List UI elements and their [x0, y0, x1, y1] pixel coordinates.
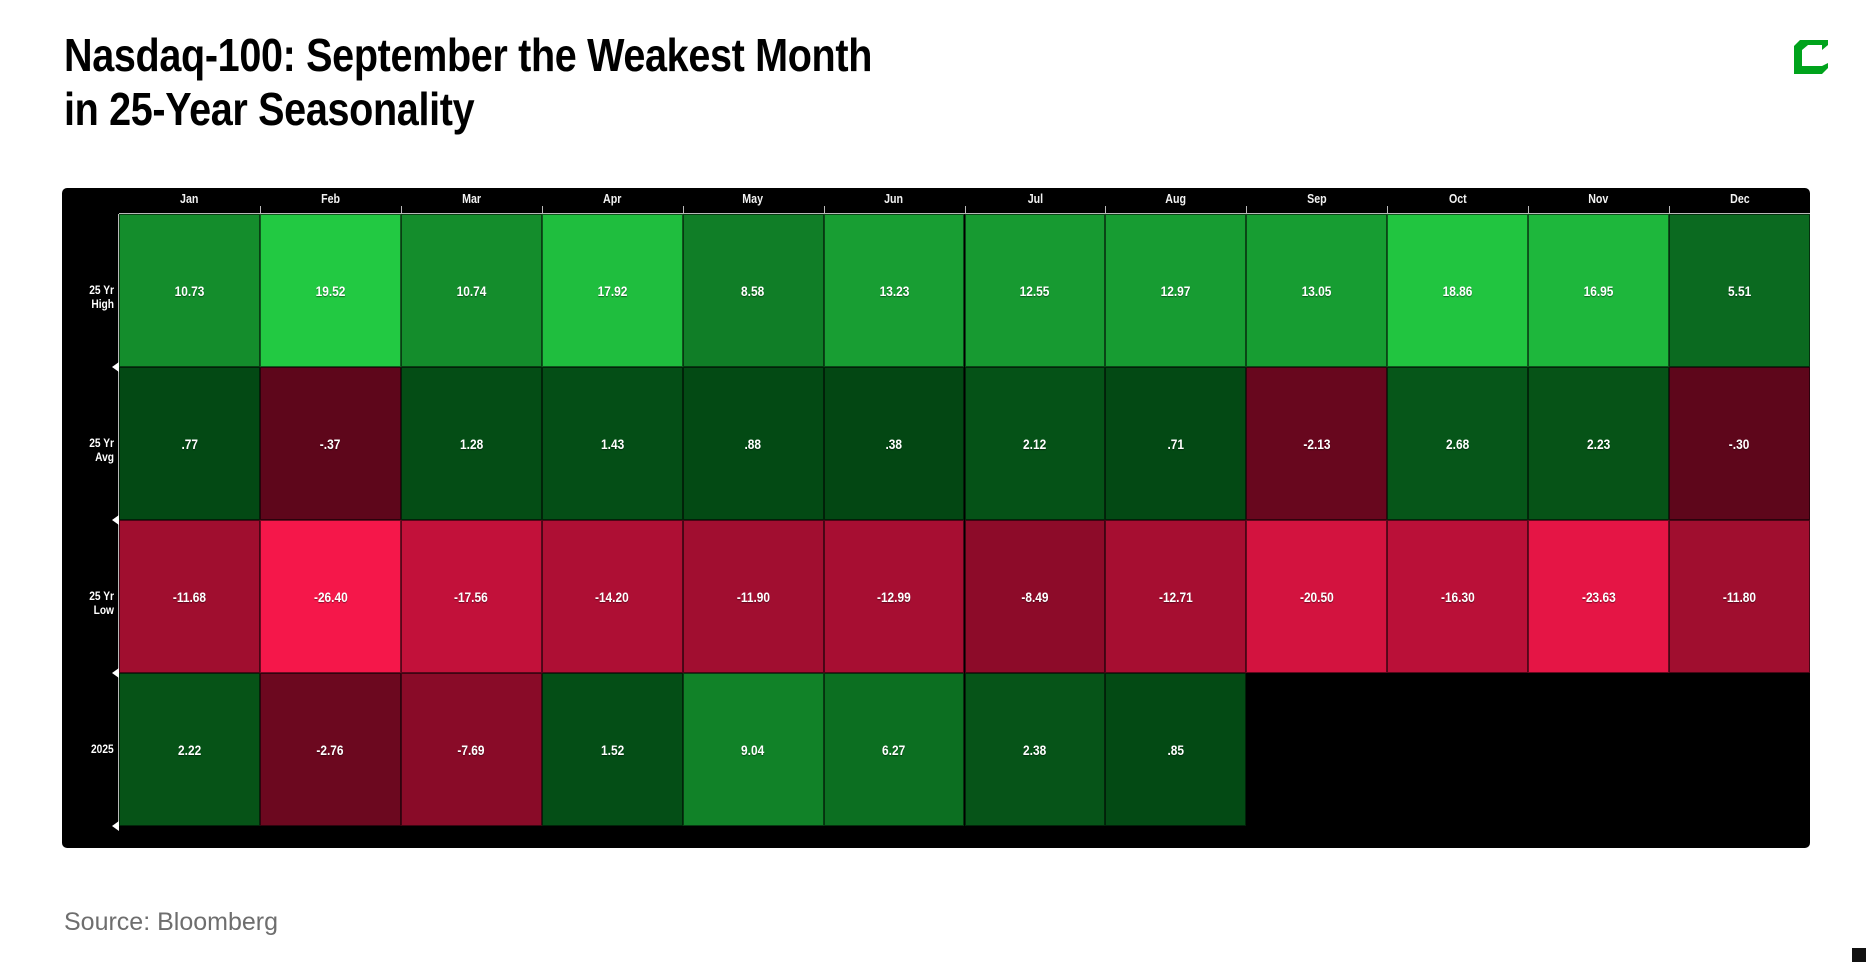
column-tick: [824, 206, 825, 214]
heatmap-cell[interactable]: 1.43: [542, 367, 683, 520]
heatmap-cell-value: -7.69: [458, 742, 485, 758]
heatmap-cell-value: 19.52: [315, 283, 345, 299]
heatmap-cell[interactable]: -23.63: [1528, 520, 1669, 673]
heatmap-cell-value: 1.28: [460, 436, 483, 452]
heatmap-cell[interactable]: -20.50: [1246, 520, 1387, 673]
heatmap-cell[interactable]: 2.38: [965, 673, 1106, 826]
row-boundary-marker-icon: [112, 821, 119, 831]
heatmap-cell-value: 1.43: [601, 436, 624, 452]
row-label-25-yr-avg: 25 Yr Avg: [62, 436, 114, 464]
column-header-sep: Sep: [1246, 188, 1387, 214]
chart-header: Nasdaq-100: September the Weakest Month …: [0, 0, 1872, 170]
heatmap-cell-value: 18.86: [1443, 283, 1473, 299]
heatmap-cell[interactable]: 2.68: [1387, 367, 1528, 520]
column-header-label: Oct: [1449, 188, 1467, 210]
heatmap-cell[interactable]: -7.69: [401, 673, 542, 826]
column-tick: [1387, 206, 1388, 214]
bloomberg-square-logo-icon: [1784, 32, 1836, 84]
column-tick: [1528, 206, 1529, 214]
heatmap-cell-value: -23.63: [1582, 589, 1616, 605]
row-label-column: 25 Yr High25 Yr Avg25 Yr Low2025: [62, 214, 119, 848]
heatmap-cell[interactable]: -26.40: [260, 520, 401, 673]
heatmap-cell[interactable]: 9.04: [683, 673, 824, 826]
heatmap-cell-value: -8.49: [1021, 589, 1048, 605]
heatmap-cell[interactable]: -14.20: [542, 520, 683, 673]
heatmap-cell-value: .85: [1168, 742, 1185, 758]
heatmap-cell[interactable]: .38: [824, 367, 965, 520]
heatmap-cell[interactable]: 12.55: [965, 214, 1106, 367]
heatmap-cell[interactable]: -11.68: [119, 520, 260, 673]
row-label-text: 25 Yr Low: [70, 589, 114, 617]
heatmap-cell-value: -14.20: [595, 589, 629, 605]
column-header-label: Jun: [885, 188, 904, 210]
heatmap-cell[interactable]: 12.97: [1105, 214, 1246, 367]
row-label-text: 25 Yr Avg: [70, 436, 114, 464]
heatmap-cell-value: -.30: [1729, 436, 1750, 452]
heatmap-cell[interactable]: 16.95: [1528, 214, 1669, 367]
column-header-may: May: [683, 188, 824, 214]
row-boundary-marker-icon: [112, 515, 119, 525]
heatmap-cell-value: 10.74: [456, 283, 486, 299]
column-header-label: Feb: [321, 188, 340, 210]
heatmap-cell-value: 2.12: [1023, 436, 1046, 452]
column-header-label: Dec: [1730, 188, 1750, 210]
heatmap-cell[interactable]: 2.22: [119, 673, 260, 826]
heatmap-cell[interactable]: -2.76: [260, 673, 401, 826]
heatmap-cell-value: 12.97: [1161, 283, 1191, 299]
row-label-text: 2025: [91, 742, 114, 756]
heatmap-chart-panel: JanFebMarAprMayJunJulAugSepOctNovDec 25 …: [62, 188, 1810, 848]
heatmap-cell-value: 2.68: [1446, 436, 1469, 452]
heatmap-cell[interactable]: 13.05: [1246, 214, 1387, 367]
heatmap-cell[interactable]: 5.51: [1669, 214, 1810, 367]
heatmap-cell-value: -2.13: [1303, 436, 1330, 452]
column-header-label: Jan: [180, 188, 198, 210]
heatmap-cell[interactable]: 6.27: [824, 673, 965, 826]
column-header-label: Aug: [1165, 188, 1186, 210]
column-tick: [965, 206, 966, 214]
heatmap-cell[interactable]: -12.99: [824, 520, 965, 673]
column-tick: [542, 206, 543, 214]
row-label-text: 25 Yr High: [70, 283, 114, 311]
heatmap-cell[interactable]: 18.86: [1387, 214, 1528, 367]
column-header-jul: Jul: [965, 188, 1106, 214]
row-boundary-marker-icon: [112, 362, 119, 372]
heatmap-cell[interactable]: -16.30: [1387, 520, 1528, 673]
heatmap-cell-value: 2.38: [1023, 742, 1046, 758]
column-header-jun: Jun: [824, 188, 965, 214]
column-header-feb: Feb: [260, 188, 401, 214]
heatmap-cell[interactable]: -.30: [1669, 367, 1810, 520]
column-header-oct: Oct: [1387, 188, 1528, 214]
heatmap-cell-value: 17.92: [597, 283, 627, 299]
heatmap-cell[interactable]: -.37: [260, 367, 401, 520]
heatmap-cell[interactable]: .85: [1105, 673, 1246, 826]
heatmap-cell-value: -17.56: [454, 589, 488, 605]
heatmap-cell[interactable]: .71: [1105, 367, 1246, 520]
heatmap-cell[interactable]: 13.23: [824, 214, 965, 367]
column-header-label: Mar: [462, 188, 481, 210]
column-header-dec: Dec: [1669, 188, 1810, 214]
heatmap-cell[interactable]: 2.23: [1528, 367, 1669, 520]
heatmap-cell-value: 10.73: [175, 283, 205, 299]
column-header-jan: Jan: [119, 188, 260, 214]
heatmap-cell[interactable]: -11.80: [1669, 520, 1810, 673]
row-label-2025: 2025: [62, 742, 114, 756]
heatmap-cell-value: 5.51: [1728, 283, 1751, 299]
column-header-label: Nov: [1589, 188, 1609, 210]
heatmap-cell[interactable]: 10.73: [119, 214, 260, 367]
source-note: Source: Bloomberg: [64, 908, 278, 937]
heatmap-cell-value: 2.22: [178, 742, 201, 758]
column-tick: [1246, 206, 1247, 214]
column-header-nov: Nov: [1528, 188, 1669, 214]
heatmap-cell-value: 13.05: [1302, 283, 1332, 299]
heatmap-cell-value: 16.95: [1584, 283, 1614, 299]
heatmap-cell-value: -.37: [320, 436, 341, 452]
column-tick: [683, 206, 684, 214]
heatmap-cell[interactable]: 1.52: [542, 673, 683, 826]
heatmap-cell[interactable]: -2.13: [1246, 367, 1387, 520]
heatmap-cell[interactable]: -12.71: [1105, 520, 1246, 673]
column-header-label: Jul: [1027, 188, 1042, 210]
heatmap-cell-value: 12.55: [1020, 283, 1050, 299]
heatmap-cell-value: 13.23: [879, 283, 909, 299]
column-header-apr: Apr: [542, 188, 683, 214]
heatmap-cell[interactable]: -11.90: [683, 520, 824, 673]
heatmap-cell-value: .38: [886, 436, 903, 452]
column-tick: [1669, 206, 1670, 214]
heatmap-cell-value: -12.71: [1159, 589, 1193, 605]
heatmap-cell-value: .71: [1168, 436, 1185, 452]
heatmap-cell-value: 2.23: [1587, 436, 1610, 452]
heatmap-grid: JanFebMarAprMayJunJulAugSepOctNovDec 25 …: [62, 188, 1810, 848]
column-header-aug: Aug: [1105, 188, 1246, 214]
heatmap-cell[interactable]: 17.92: [542, 214, 683, 367]
heatmap-cell[interactable]: .77: [119, 367, 260, 520]
row-label-25-yr-low: 25 Yr Low: [62, 589, 114, 617]
page-title: Nasdaq-100: September the Weakest Month …: [64, 28, 1268, 137]
heatmap-cell-value: -11.90: [737, 589, 770, 605]
heatmap-cell-value: 8.58: [742, 283, 765, 299]
heatmap-cell-value: 1.52: [601, 742, 624, 758]
heatmap-cell-value: -11.80: [1723, 589, 1756, 605]
heatmap-cell-value: -11.68: [173, 589, 206, 605]
heatmap-cell-value: -12.99: [877, 589, 911, 605]
row-label-25-yr-high: 25 Yr High: [62, 283, 114, 311]
heatmap-cell-value: -26.40: [313, 589, 347, 605]
column-tick: [401, 206, 402, 214]
heatmap-cell-value: .77: [181, 436, 198, 452]
column-header-mar: Mar: [401, 188, 542, 214]
heatmap-cell[interactable]: -17.56: [401, 520, 542, 673]
heatmap-cell-value: 9.04: [742, 742, 765, 758]
heatmap-cell[interactable]: 1.28: [401, 367, 542, 520]
row-boundary-marker-icon: [112, 668, 119, 678]
heatmap-cell[interactable]: 19.52: [260, 214, 401, 367]
heatmap-cell[interactable]: 10.74: [401, 214, 542, 367]
heatmap-cell[interactable]: .88: [683, 367, 824, 520]
heatmap-cell[interactable]: -8.49: [965, 520, 1106, 673]
corner-mark: [1852, 948, 1866, 962]
heatmap-cell[interactable]: 2.12: [965, 367, 1106, 520]
heatmap-cell[interactable]: 8.58: [683, 214, 824, 367]
heatmap-cell-value: -2.76: [317, 742, 344, 758]
column-tick: [1105, 206, 1106, 214]
heatmap-cell-value: .88: [745, 436, 762, 452]
heatmap-cell-value: 6.27: [882, 742, 905, 758]
column-tick: [260, 206, 261, 214]
column-header-label: May: [743, 188, 764, 210]
heatmap-cell-value: -16.30: [1441, 589, 1475, 605]
column-header-label: Apr: [603, 188, 621, 210]
heatmap-cell-value: -20.50: [1300, 589, 1334, 605]
heatmap-cells: 10.7319.5210.7417.928.5813.2312.5512.971…: [119, 214, 1810, 826]
column-header-label: Sep: [1307, 188, 1327, 210]
